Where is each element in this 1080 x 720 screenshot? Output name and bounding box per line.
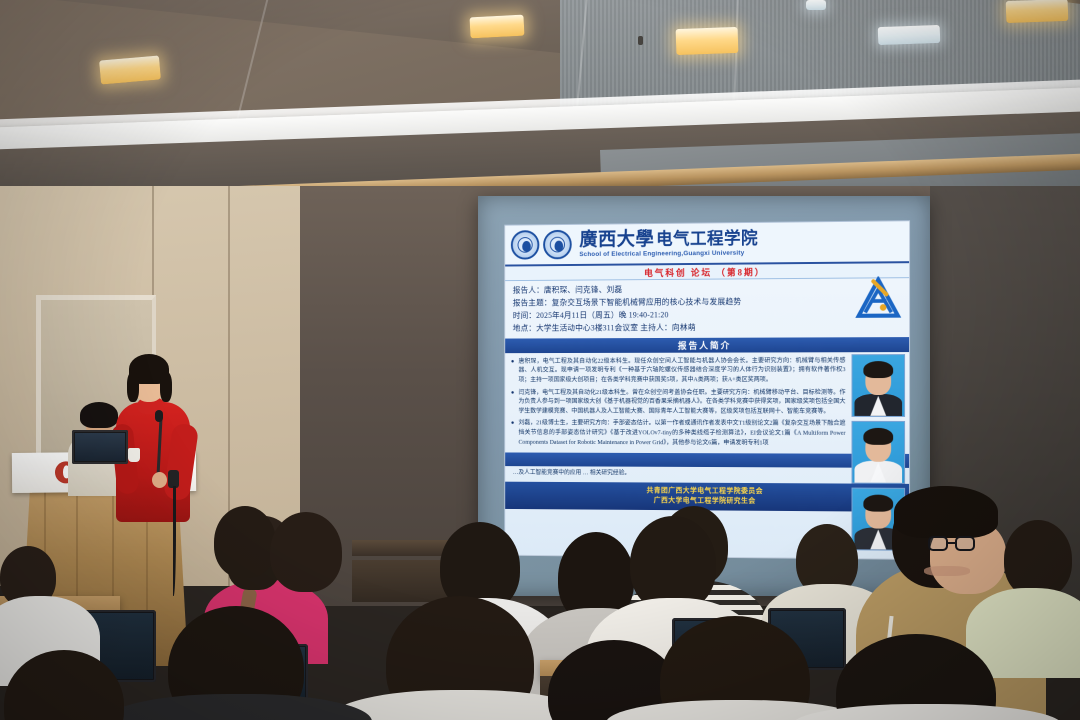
presenter-hair-side: [160, 372, 172, 402]
slide-university-name: 廣西大學: [579, 230, 654, 249]
ceiling-light: [806, 0, 826, 10]
bio-text-2: 闫克锋，电气工程及其自动化21级本科生。曾在众创空间考盖协会任职。主要研究方向：…: [518, 388, 845, 417]
bio-text-1: 唐积琛，电气工程及其自动化22级本科生。现任众创空间人工智能与机器人协会会长。主…: [518, 356, 845, 385]
bio-item: ● 刘磊，21级博士生，主要研究方向：手部姿态估计。以第一作者或通讯作者发表中文…: [511, 419, 846, 448]
speaker-photo-1: [852, 354, 906, 417]
eyeglasses-icon: [955, 536, 975, 551]
bio-item: ● 唐积琛，电气工程及其自动化22级本科生。现任众创空间人工智能与机器人协会会长…: [511, 356, 846, 385]
ceiling-light: [469, 15, 524, 39]
footer-line-2: 广西大学电气工程学院研究生会: [505, 495, 909, 508]
ceiling-light: [676, 27, 739, 55]
bullet-icon: ●: [511, 388, 519, 416]
speaker-photo-2: [852, 421, 906, 484]
slide-footer: 共青团广西大学电气工程学院委员会 广西大学电气工程学院研究生会: [505, 482, 909, 512]
bullet-icon: ●: [511, 357, 519, 385]
school-seal-icon: [543, 230, 572, 260]
bio-text-3: 刘磊，21级博士生，主要研究方向：手部姿态估计。以第一作者或通讯作者发表中文T1…: [518, 419, 845, 448]
slide-subtitle-en: School of Electrical Engineering,Guangxi…: [579, 250, 758, 258]
stage-laptop: [72, 430, 128, 464]
speaker-bios: ● 唐积琛，电气工程及其自动化22级本科生。现任众创空间人工智能与机器人协会会长…: [505, 352, 909, 453]
slide-header: 廣西大學 电气工程学院 School of Electrical Enginee…: [505, 221, 909, 266]
laptop-operator-hair: [80, 402, 118, 428]
guangxi-university-seal-icon: [511, 230, 539, 260]
eyeglasses-icon: [928, 536, 948, 551]
presenter-hair-side: [127, 372, 139, 402]
info-line-location: 地点：大学生活动中心3楼311会议室 主持人：向林萌: [513, 321, 901, 335]
microphone-head: [155, 410, 163, 422]
ceiling-light: [1006, 0, 1069, 23]
stage-cup: [128, 448, 140, 462]
presenter-hand: [152, 472, 167, 488]
lecture-hall-photo: 廣西大學 电气工程学院 School of Electrical Enginee…: [0, 0, 1080, 720]
ceiling: [0, 0, 1080, 200]
sprinkler-icon: [638, 36, 643, 45]
slide-department-name: 电气工程学院: [656, 230, 758, 248]
bio-item: ● 闫克锋，电气工程及其自动化21级本科生。曾在众创空间考盖协会任职。主要研究方…: [511, 388, 846, 417]
forum-title: 电气科创 论坛 （第8期）: [644, 265, 765, 279]
section-title: 报告人简介: [678, 339, 731, 352]
section-title-bar: 报告人简介: [505, 337, 909, 353]
ceiling-light: [878, 25, 941, 45]
slide-info-block: 报告人：唐积琛、闫克锋、刘磊 报告主题：复杂交互场景下智能机械臂应用的核心技术与…: [505, 278, 909, 338]
bullet-icon: ●: [511, 419, 519, 447]
robot-arm-logo-icon: [853, 276, 903, 322]
